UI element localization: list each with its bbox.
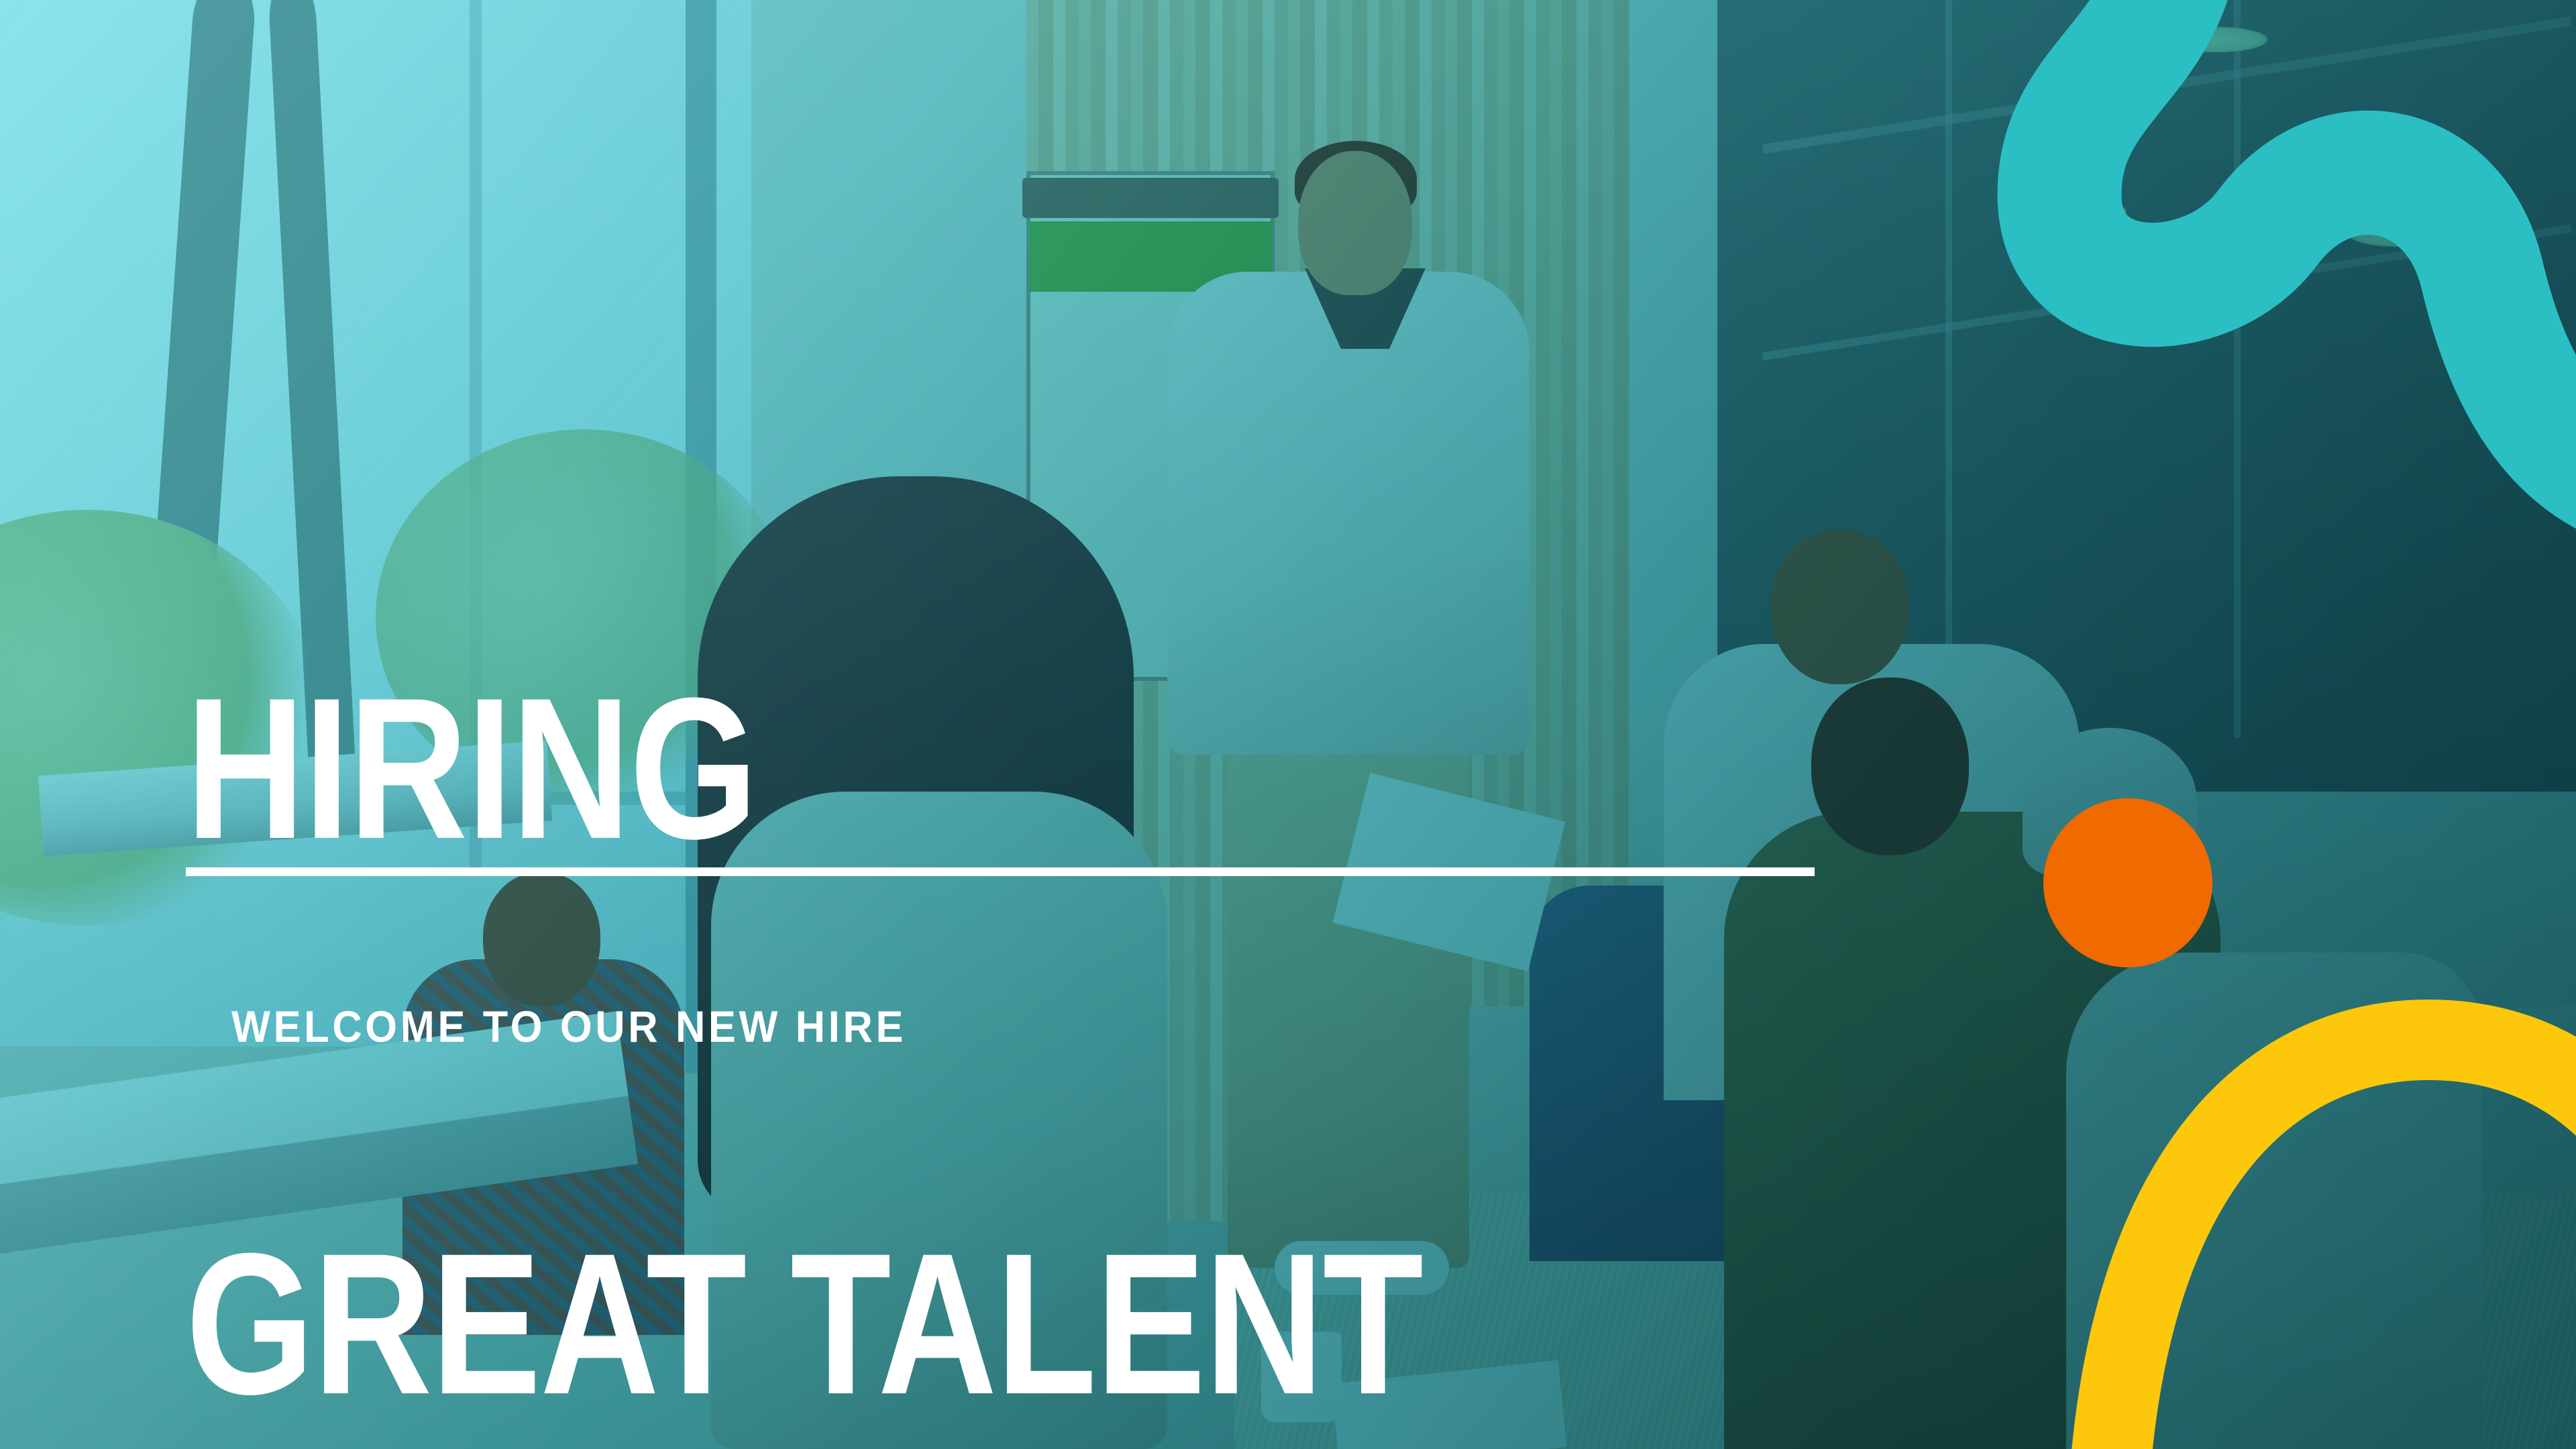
banner-content: HIRING GREAT TALENT WELCOME TO OUR NEW H… bbox=[0, 0, 2576, 1449]
headline-line-1: HIRING bbox=[186, 676, 1422, 861]
subtitle: WELCOME TO OUR NEW HIRE bbox=[231, 1001, 906, 1052]
divider-rule bbox=[186, 867, 1815, 876]
headline-line-2: GREAT TALENT bbox=[186, 1231, 1422, 1416]
hiring-banner: HIRING GREAT TALENT WELCOME TO OUR NEW H… bbox=[0, 0, 2576, 1449]
page-title: HIRING GREAT TALENT bbox=[186, 305, 1422, 1449]
